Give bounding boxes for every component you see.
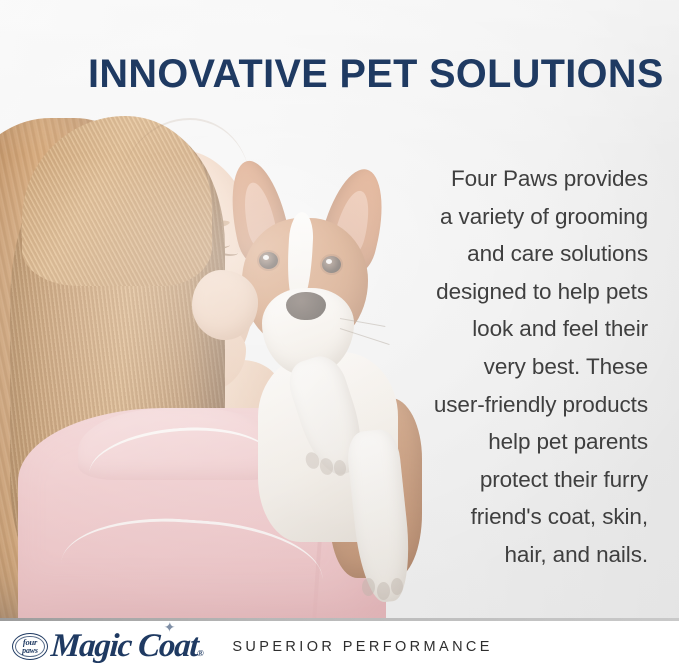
four-paws-logo-icon: four paws (12, 633, 48, 660)
registered-mark: ® (197, 648, 204, 658)
four-paws-logo-line1: four (23, 638, 37, 647)
puppy-toe (377, 582, 390, 600)
copy-line: user-friendly products (392, 386, 648, 424)
copy-line: protect their furry (392, 461, 648, 499)
brand-tagline: SUPERIOR PERFORMANCE (232, 639, 493, 655)
description-paragraph: Four Paws provides a variety of grooming… (392, 160, 648, 574)
puppy-nose (286, 292, 326, 320)
copy-line: a variety of grooming (392, 198, 648, 236)
copy-line: Four Paws provides (392, 160, 648, 198)
magic-coat-wordmark: ✦ Magic Coat® (50, 630, 212, 663)
copy-line: very best. These (392, 348, 648, 386)
copy-line: and care solutions (392, 235, 648, 273)
sparkle-star-icon: ✦ (163, 621, 178, 635)
copy-line: look and feel their (392, 310, 648, 348)
puppy-toe (362, 578, 375, 596)
brand-footer: four paws ✦ Magic Coat® SUPERIOR PERFORM… (0, 621, 679, 672)
copy-line: hair, and nails. (392, 536, 648, 574)
copy-line: help pet parents (392, 423, 648, 461)
puppy-left-eye (259, 252, 278, 269)
four-paws-logo-line2: paws (22, 647, 38, 656)
copy-line: friend's coat, skin, (392, 498, 648, 536)
copy-line: designed to help pets (392, 273, 648, 311)
puppy-toe (391, 578, 403, 595)
page-title: INNOVATIVE PET SOLUTIONS (88, 54, 623, 94)
promo-banner: INNOVATIVE PET SOLUTIONS Four Paws provi… (0, 0, 679, 672)
puppy-right-eye (322, 256, 341, 273)
